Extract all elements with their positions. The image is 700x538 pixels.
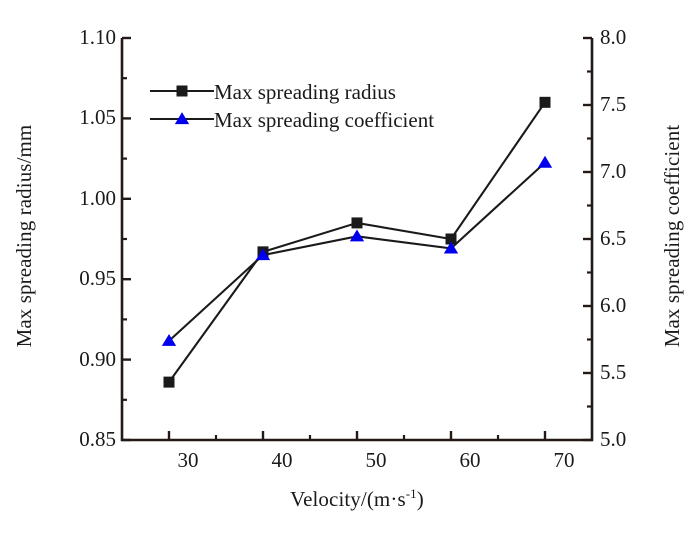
series-line-max-spreading-radius [169,102,545,382]
data-point-max-spreading-coefficient [539,157,552,167]
chart-figure: Max spreading radius/mm Max spreading co… [0,0,700,538]
data-point-max-spreading-radius [164,377,174,387]
legend-marker-max-spreading-radius [177,86,187,96]
data-point-max-spreading-radius [352,218,362,228]
series-line-max-spreading-coefficient [169,163,545,341]
legend-markers [150,86,214,124]
data-point-max-spreading-radius [540,97,550,107]
data-series-layer [163,97,552,387]
data-point-max-spreading-coefficient [351,230,364,240]
plot-canvas [0,0,700,538]
